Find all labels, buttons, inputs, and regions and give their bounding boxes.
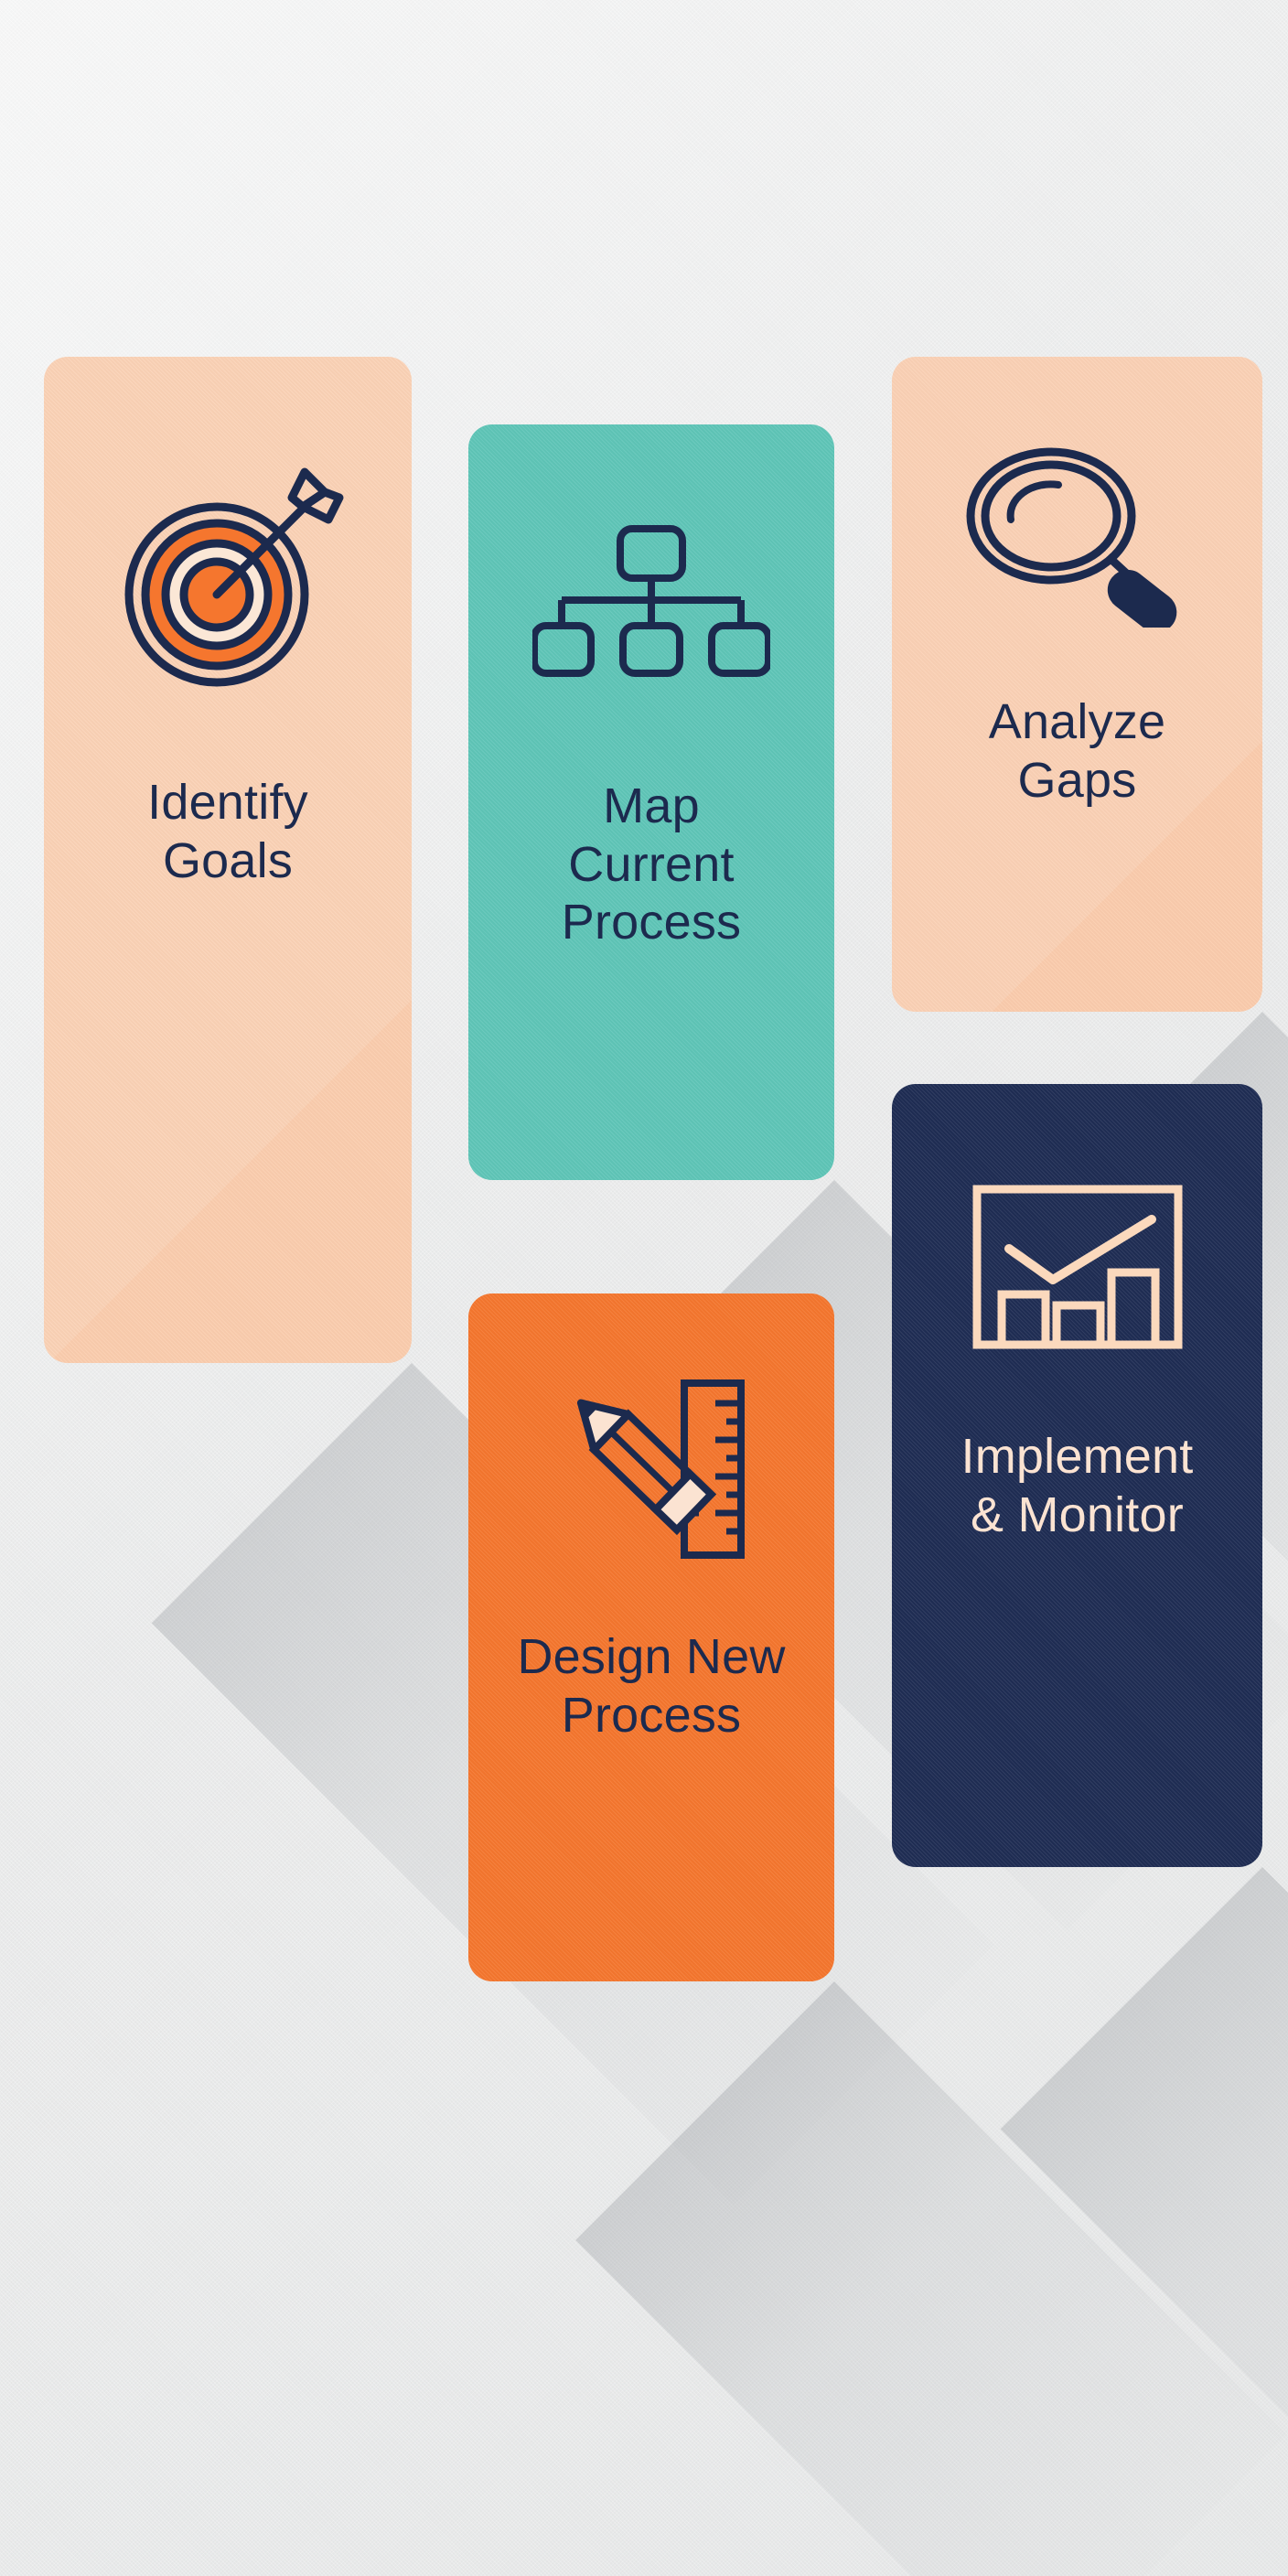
- step-card-label: Design New Process: [517, 1628, 785, 1744]
- step-card-design-new-process[interactable]: Design New Process: [468, 1293, 834, 1981]
- step-card-identify-goals[interactable]: Identify Goals: [44, 357, 412, 1363]
- step-card-label: Map Current Process: [562, 778, 741, 952]
- step-card-implement-and-monitor[interactable]: Implement & Monitor: [892, 1084, 1262, 1867]
- infographic-canvas: Identify Goals Map Current Process: [0, 0, 1288, 2576]
- step-card-analyze-gaps[interactable]: Analyze Gaps: [892, 357, 1262, 1012]
- shadow-design-process: [575, 1981, 1287, 2576]
- step-card-map-current-process[interactable]: Map Current Process: [468, 424, 834, 1180]
- pencil-ruler-icon: [542, 1379, 761, 1562]
- bar-chart-trend-icon: [972, 1185, 1183, 1349]
- target-arrow-icon: [109, 465, 347, 693]
- step-card-label: Analyze Gaps: [989, 693, 1166, 810]
- magnifying-glass-icon: [963, 445, 1192, 628]
- shadow-implement-monitor: [1001, 1867, 1288, 2576]
- org-chart-hierarchy-icon: [532, 523, 770, 697]
- step-card-label: Implement & Monitor: [961, 1428, 1194, 1544]
- step-card-label: Identify Goals: [147, 774, 308, 890]
